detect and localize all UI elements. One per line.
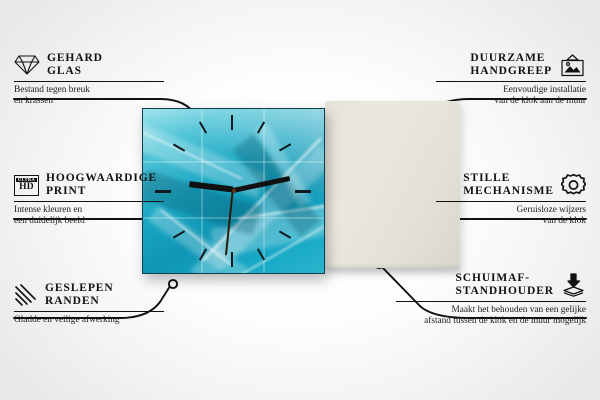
feature-title: GEHARD GLAS (47, 52, 103, 78)
diamond-icon (14, 54, 40, 76)
feature-heading: GESLEPEN RANDEN (14, 282, 164, 308)
feature-description: Intense kleuren en een duidelijk beeld (14, 205, 164, 228)
feature-description: Gladde en veilige afwerking (14, 315, 164, 326)
infographic-canvas: GEHARD GLAS Bestand tegen breuk en krass… (0, 0, 600, 400)
feature-durable-handle: DUURZAME HANDGREEP Eenvoudige installati… (436, 52, 586, 108)
feature-foam-spacer: SCHUIMAF- STANDHOUDER Maakt het behouden… (396, 272, 586, 328)
marker-geslepen-randen (169, 280, 177, 288)
feature-title: DUURZAME HANDGREEP (470, 52, 552, 78)
feature-description: Eenvoudige installatie van de klok aan d… (436, 85, 586, 108)
feature-description: Bestand tegen breuk en krassen (14, 85, 164, 108)
gear-icon (561, 173, 586, 197)
feature-ground-edges: GESLEPEN RANDEN Gladde en veilige afwerk… (14, 282, 164, 326)
feature-title: HOOGWAARDIGE PRINT (46, 172, 157, 198)
feature-description: Maakt het behouden van een gelijke afsta… (396, 305, 586, 328)
feature-heading: SCHUIMAF- STANDHOUDER (396, 272, 586, 298)
feature-heading: ultra HD HOOGWAARDIGE PRINT (14, 172, 164, 198)
picture-frame-icon (559, 54, 586, 77)
feature-divider (14, 201, 164, 202)
feature-heading: GEHARD GLAS (14, 52, 164, 78)
glass-wall-clock-face (142, 108, 325, 274)
hour-tick-12 (231, 115, 233, 130)
feature-silent-mechanism: STILLE MECHANISME Geruisloze wijzers van… (436, 172, 586, 228)
feature-title: SCHUIMAF- STANDHOUDER (455, 272, 554, 298)
ground-edges-icon (14, 284, 38, 306)
feature-heading: DUURZAME HANDGREEP (436, 52, 586, 78)
feature-divider (396, 301, 586, 302)
feature-title: GESLEPEN RANDEN (45, 282, 114, 308)
clock-center-pin (232, 189, 236, 193)
feature-tempered-glass: GEHARD GLAS Bestand tegen breuk en krass… (14, 52, 164, 108)
glass-grid-line (143, 217, 324, 219)
ultra-hd-icon-large-text: HD (19, 183, 34, 193)
down-arrow-stack-icon (561, 273, 586, 297)
feature-divider (436, 81, 586, 82)
feature-heading: STILLE MECHANISME (436, 172, 586, 198)
hour-tick-3 (295, 190, 311, 193)
ultra-hd-icon: ultra HD (14, 175, 39, 196)
glass-grid-line (201, 109, 203, 273)
feature-divider (436, 201, 586, 202)
glass-grid-line (263, 109, 265, 273)
feature-high-quality-print: ultra HD HOOGWAARDIGE PRINT Intense kleu… (14, 172, 164, 228)
glass-grid-line (143, 161, 324, 163)
feature-divider (14, 81, 164, 82)
feature-divider (14, 311, 164, 312)
hour-tick-6 (231, 252, 233, 267)
feature-description: Geruisloze wijzers van de klok (436, 205, 586, 228)
hour-tick-2 (279, 143, 291, 151)
feature-title: STILLE MECHANISME (463, 172, 554, 198)
